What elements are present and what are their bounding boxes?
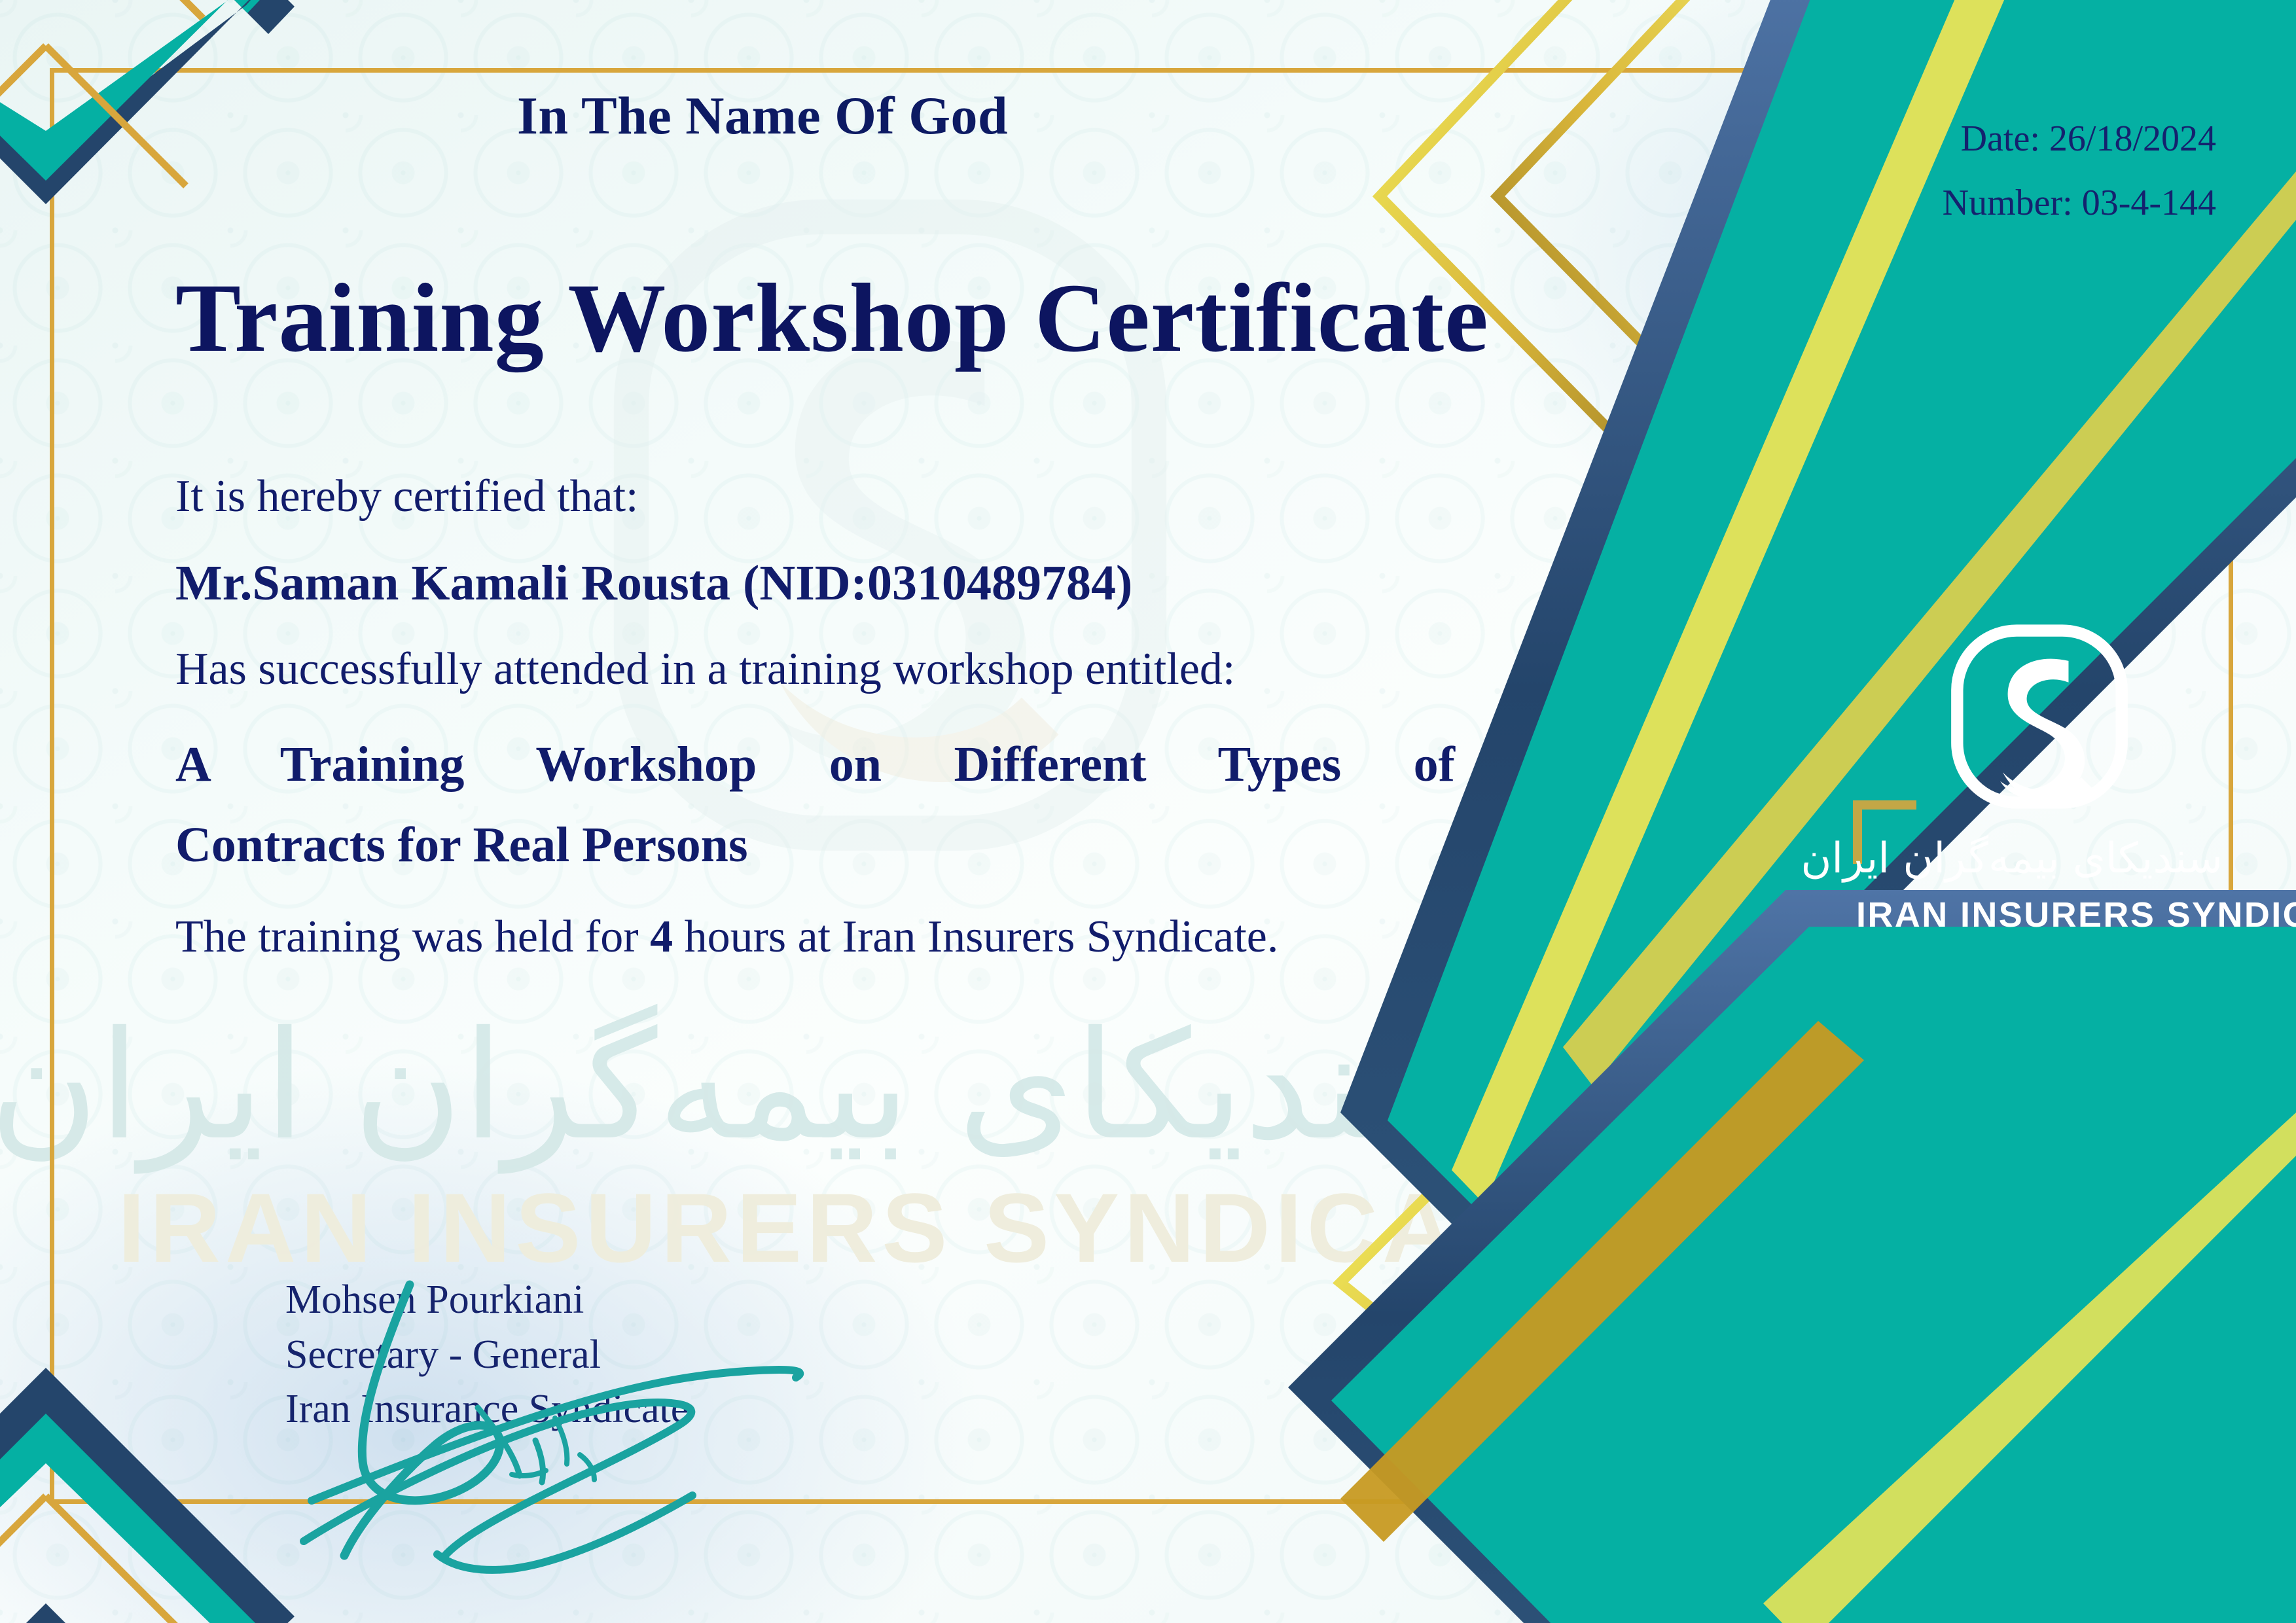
recipient-name-line: Mr.Saman Kamali Rousta (NID:0310489784): [175, 556, 1458, 611]
certificate-body: It is hereby certified that: Mr.Saman Ka…: [175, 471, 1458, 962]
signatory-organization: Iran Insurance Syndicate: [285, 1382, 689, 1437]
syndicate-logo-english: IRAN INSURERS SYNDICATE: [1856, 895, 2223, 935]
duration-suffix: hours at Iran Insurers Syndicate.: [673, 912, 1278, 962]
page-title: Training Workshop Certificate: [175, 262, 1489, 374]
duration-line: The training was held for 4 hours at Ira…: [175, 912, 1458, 962]
page-tagline: In The Name Of God: [517, 85, 1008, 147]
signatory-role: Secretary - General: [285, 1328, 689, 1383]
syndicate-logo: سندیکای بیمه‌گران ایران IRAN INSURERS SY…: [1856, 622, 2223, 935]
signature-block: Mohsen Pourkiani Secretary - General Ira…: [285, 1273, 689, 1437]
duration-prefix: The training was held for: [175, 912, 650, 962]
syndicate-logo-persian: سندیکای بیمه‌گران ایران: [1856, 834, 2223, 884]
workshop-title-line-2: Contracts for Real Persons: [175, 805, 1455, 885]
signatory-name: Mohsen Pourkiani: [285, 1273, 689, 1328]
syndicate-logo-mark: [1945, 622, 2134, 811]
duration-hours: 4: [650, 912, 673, 962]
attended-intro-line: Has successfully attended in a training …: [175, 644, 1458, 694]
certificate-document: سندیکای بیمه‌گران ایران IRAN INSURERS SY…: [0, 0, 2296, 1623]
certificate-number: Number: 03-4-144: [1943, 182, 2216, 224]
certificate-date: Date: 26/18/2024: [1961, 118, 2216, 160]
certified-intro-line: It is hereby certified that:: [175, 471, 1458, 522]
workshop-title-line-1: A Training Workshop on Different Types o…: [175, 724, 1455, 805]
